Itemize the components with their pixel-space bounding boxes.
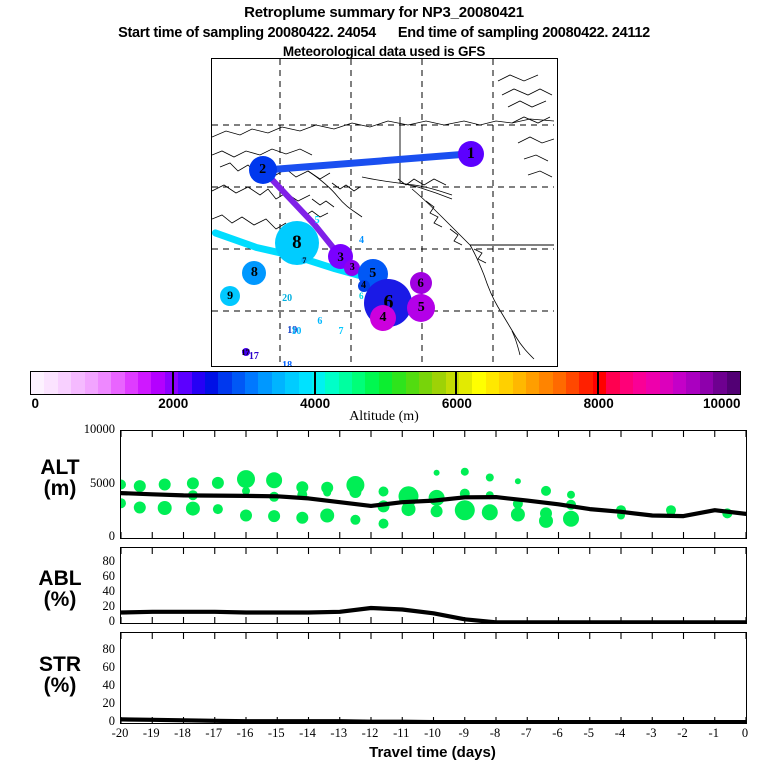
colorbar-swatch-5 [98, 372, 111, 394]
x-tick-label--14: -14 [292, 726, 324, 741]
x-tick-label--3: -3 [635, 726, 667, 741]
alt-scatter-point [431, 505, 443, 517]
x-tick-label--2: -2 [667, 726, 699, 741]
map-text-label-1: 4 [359, 235, 364, 246]
alt-scatter-point [563, 511, 579, 527]
colorbar-swatch-23 [339, 372, 352, 394]
colorbar-swatch-32 [459, 372, 472, 394]
x-tick-label-0: 0 [729, 726, 761, 741]
colorbar-swatch-41 [579, 372, 592, 394]
colorbar-swatch-3 [71, 372, 84, 394]
alt-scatter-point [268, 510, 280, 522]
y-tick-20: 20 [60, 696, 115, 711]
colorbar-swatch-12 [192, 372, 205, 394]
colorbar-swatch-13 [205, 372, 218, 394]
colorbar-swatch-18 [272, 372, 285, 394]
map-marker-8[interactable]: 8 [275, 221, 319, 265]
alt-scatter-point [539, 514, 553, 528]
alt-scatter-point [323, 489, 331, 497]
alt-scatter-point [379, 519, 389, 529]
end-time-label: End time of sampling 20080422. 24112 [398, 25, 650, 41]
x-tick-label--11: -11 [385, 726, 417, 741]
str-chart-panel[interactable] [120, 632, 747, 724]
start-time-label: Start time of sampling 20080422. 24054 [118, 25, 376, 41]
colorbar-swatch-15 [232, 372, 245, 394]
colorbar-swatch-51 [713, 372, 726, 394]
alt-scatter-point [240, 510, 252, 522]
altitude-colorbar[interactable] [30, 371, 741, 395]
y-tick-20: 20 [60, 599, 115, 614]
alt-scatter-point [379, 487, 389, 497]
colorbar-divider-4000 [314, 372, 316, 394]
colorbar-swatch-40 [566, 372, 579, 394]
alt-scatter-point [159, 479, 171, 491]
colorbar-swatch-0 [31, 372, 44, 394]
x-tick-label--13: -13 [323, 726, 355, 741]
colorbar-swatch-33 [472, 372, 485, 394]
x-tick-label--20: -20 [104, 726, 136, 741]
y-tick-80: 80 [60, 642, 115, 657]
map-marker-5b[interactable]: 5 [407, 294, 435, 322]
alt-scatter-point [320, 509, 334, 523]
met-data-label: Meteorological data used is GFS [0, 44, 768, 59]
colorbar-swatch-47 [660, 372, 673, 394]
y-tick-40: 40 [60, 678, 115, 693]
colorbar-swatch-11 [178, 372, 191, 394]
colorbar-swatch-39 [553, 372, 566, 394]
alt-scatter-point [187, 477, 199, 489]
colorbar-swatch-42 [593, 372, 606, 394]
map-text-label-7: 6 [359, 291, 364, 301]
str-chart-svg [121, 633, 746, 723]
colorbar-divider-6000 [455, 372, 457, 394]
colorbar-swatch-24 [352, 372, 365, 394]
colorbar-swatch-17 [258, 372, 271, 394]
colorbar-swatch-1 [44, 372, 57, 394]
map-marker-1[interactable]: 1 [458, 141, 484, 167]
colorbar-swatch-20 [299, 372, 312, 394]
colorbar-title: Altitude (m) [0, 409, 768, 425]
page-title: Retroplume summary for NP3_20080421 [0, 4, 768, 21]
alt-scatter-point [515, 478, 521, 484]
colorbar-swatch-19 [285, 372, 298, 394]
colorbar-swatch-44 [620, 372, 633, 394]
map-text-label-0: 5 [315, 215, 320, 226]
map-marker-9[interactable]: 9 [220, 286, 240, 306]
colorbar-swatch-22 [325, 372, 338, 394]
alt-scatter-point [486, 474, 494, 482]
alt-scatter-point [186, 502, 200, 516]
colorbar-swatch-4 [85, 372, 98, 394]
alt-scatter-point [541, 486, 551, 496]
colorbar-swatch-7 [125, 372, 138, 394]
map-text-label-5: 10 [291, 326, 301, 337]
x-tick-label--5: -5 [573, 726, 605, 741]
colorbar-swatch-6 [111, 372, 124, 394]
x-tick-label--18: -18 [167, 726, 199, 741]
y-tick-40: 40 [60, 584, 115, 599]
map-marker-6b[interactable]: 6 [410, 272, 432, 294]
alt-scatter-point [266, 472, 282, 488]
map-marker-2[interactable]: 2 [249, 156, 277, 184]
colorbar-swatch-50 [700, 372, 713, 394]
x-tick-label--12: -12 [354, 726, 386, 741]
alt-scatter-point [212, 477, 224, 489]
x-tick-label--19: -19 [135, 726, 167, 741]
alt-scatter-point [242, 487, 250, 495]
colorbar-swatch-14 [218, 372, 231, 394]
alt-scatter-point [350, 515, 360, 525]
colorbar-swatch-48 [673, 372, 686, 394]
x-tick-label--7: -7 [510, 726, 542, 741]
colorbar-swatch-37 [526, 372, 539, 394]
alt-scatter-point [567, 491, 575, 499]
alt-scatter-point [121, 498, 126, 508]
colorbar-swatch-43 [606, 372, 619, 394]
x-tick-label--8: -8 [479, 726, 511, 741]
y-tick-10000: 10000 [60, 422, 115, 437]
alt-scatter-point [237, 470, 255, 488]
alt-scatter-point [511, 508, 525, 522]
colorbar-swatch-27 [392, 372, 405, 394]
alt-scatter-point [434, 470, 440, 476]
trajectory-map[interactable]: 1233546465889717542061910761817 [211, 58, 558, 367]
x-tick-label--9: -9 [448, 726, 480, 741]
colorbar-swatch-28 [406, 372, 419, 394]
colorbar-swatch-52 [727, 372, 740, 394]
alt-scatter-point [134, 480, 146, 492]
colorbar-swatch-38 [539, 372, 552, 394]
colorbar-swatch-35 [499, 372, 512, 394]
y-tick-0: 0 [60, 529, 115, 544]
colorbar-gradient [31, 372, 740, 394]
alt-scatter-point [213, 504, 223, 514]
x-tick-label--15: -15 [260, 726, 292, 741]
alt-scatter-point [296, 512, 308, 524]
colorbar-divider-8000 [597, 372, 599, 394]
alt-chart-panel[interactable] [120, 430, 747, 539]
x-tick-label--16: -16 [229, 726, 261, 741]
alt-scatter-points [121, 468, 732, 529]
colorbar-swatch-26 [379, 372, 392, 394]
alt-scatter-point [455, 500, 475, 520]
map-marker-4b[interactable]: 4 [370, 305, 396, 331]
alt-scatter-point [134, 502, 146, 514]
x-tick-label--4: -4 [604, 726, 636, 741]
map-text-label-6: 7 [339, 326, 344, 337]
colorbar-swatch-2 [58, 372, 71, 394]
y-tick-5000: 5000 [60, 476, 115, 491]
alt-scatter-point [158, 501, 172, 515]
y-tick-60: 60 [60, 569, 115, 584]
alt-scatter-point [349, 486, 361, 498]
trajectory-blue-track [263, 154, 471, 171]
y-tick-60: 60 [60, 660, 115, 675]
colorbar-swatch-8 [138, 372, 151, 394]
colorbar-swatch-36 [513, 372, 526, 394]
abl-chart-panel[interactable] [120, 547, 747, 624]
x-tick-label--10: -10 [417, 726, 449, 741]
colorbar-swatch-30 [432, 372, 445, 394]
map-text-label-9: 17 [249, 351, 259, 362]
abl-chart-svg [121, 548, 746, 623]
colorbar-divider-2000 [172, 372, 174, 394]
colorbar-swatch-49 [686, 372, 699, 394]
colorbar-swatch-16 [245, 372, 258, 394]
x-axis-title: Travel time (days) [120, 744, 745, 761]
map-text-label-2: 20 [282, 293, 292, 304]
map-text-label-3: 6 [317, 316, 322, 327]
y-tick-0: 0 [60, 614, 115, 629]
x-tick-label--6: -6 [542, 726, 574, 741]
x-tick-label--1: -1 [698, 726, 730, 741]
colorbar-swatch-46 [646, 372, 659, 394]
y-tick-80: 80 [60, 554, 115, 569]
str-axis-ticks [121, 633, 746, 723]
alt-scatter-point [121, 480, 126, 490]
alt-chart-svg [121, 431, 746, 538]
alt-scatter-point [482, 504, 498, 520]
colorbar-swatch-29 [419, 372, 432, 394]
x-tick-label--17: -17 [198, 726, 230, 741]
alt-scatter-point [461, 468, 469, 476]
colorbar-swatch-9 [151, 372, 164, 394]
map-text-label-8: 18 [282, 360, 292, 367]
sampling-time-row: Start time of sampling 20080422. 24054En… [0, 25, 768, 41]
colorbar-swatch-34 [486, 372, 499, 394]
colorbar-swatch-45 [633, 372, 646, 394]
colorbar-swatch-25 [365, 372, 378, 394]
